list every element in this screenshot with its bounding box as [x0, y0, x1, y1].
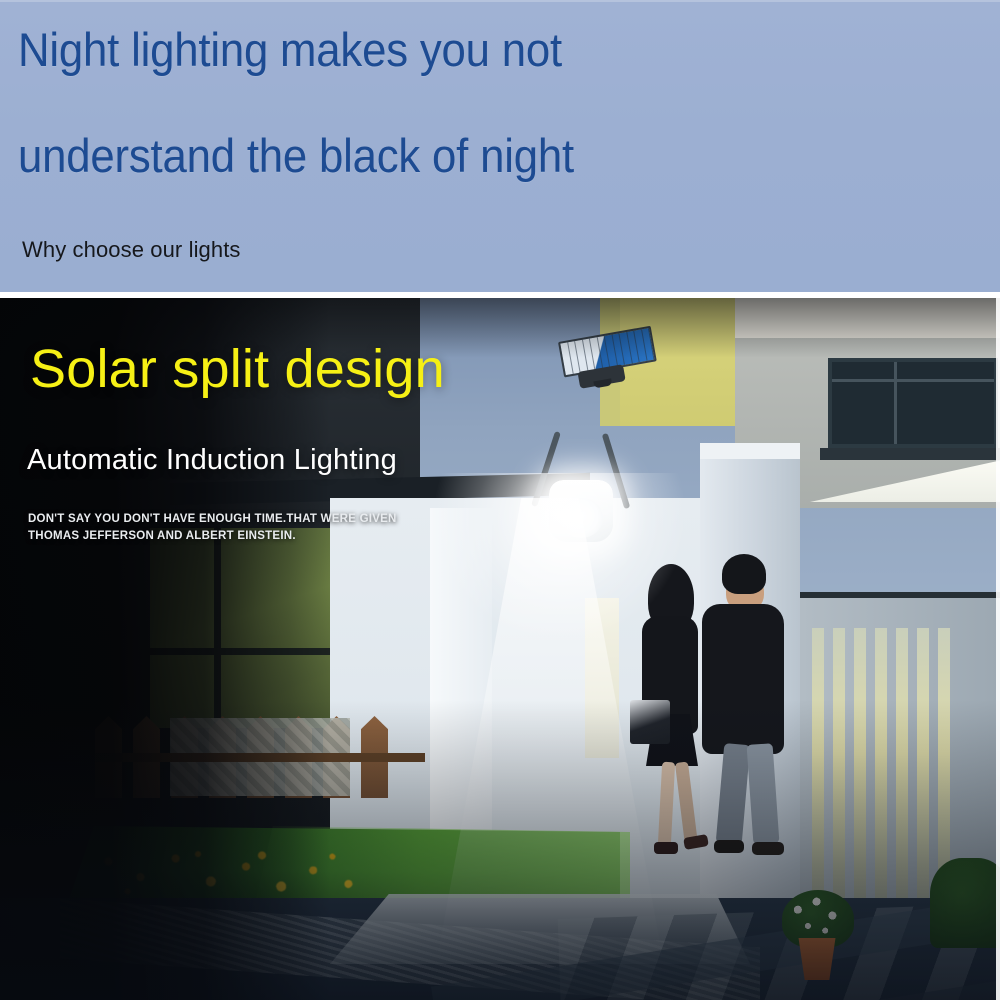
photo-caption-line-2: THOMAS JEFFERSON AND ALBERT EINSTEIN.: [28, 528, 397, 545]
header-heading-line-2: understand the black of night: [18, 128, 574, 183]
right-hedge: [930, 858, 1000, 948]
man-leg-left: [716, 743, 751, 845]
header-banner: Night lighting makes you not understand …: [0, 0, 1000, 292]
product-photo-panel: Solar split design Automatic Induction L…: [0, 298, 1000, 1000]
fence-rail: [95, 753, 425, 762]
woman-shoe-left: [654, 842, 678, 854]
man-shoe-right: [752, 842, 784, 855]
window-sill: [820, 448, 1000, 460]
porch-door-light: [585, 598, 619, 758]
photo-subtitle: Automatic Induction Lighting: [27, 444, 397, 477]
photo-caption-line-1: DON'T SAY YOU DON'T HAVE ENOUGH TIME.THA…: [28, 511, 397, 528]
lamp-lens: [559, 498, 603, 538]
header-subheading: Why choose our lights: [22, 237, 241, 263]
man-leg-right: [747, 743, 780, 845]
header-heading-line-1: Night lighting makes you not: [18, 22, 562, 77]
yellow-flower-bed: [70, 843, 390, 905]
led-lamp-head: [527, 438, 637, 548]
man-figure: [700, 554, 792, 870]
man-shoe-left: [714, 840, 744, 853]
night-scene-illustration: [0, 298, 1000, 1000]
man-hair: [722, 554, 766, 594]
photo-title: Solar split design: [30, 338, 445, 400]
upper-window: [828, 358, 998, 448]
product-banner-page: Night lighting makes you not understand …: [0, 0, 1000, 1000]
photo-caption: DON'T SAY YOU DON'T HAVE ENOUGH TIME.THA…: [28, 511, 397, 545]
photo-right-edge: [996, 298, 1000, 1000]
roof-soffit: [735, 298, 1000, 338]
left-lit-window: [150, 528, 350, 728]
woman-leg-right: [675, 762, 698, 847]
pillar-cap: [700, 443, 800, 459]
man-suit-jacket: [702, 604, 784, 754]
woman-leg-left: [658, 762, 675, 847]
woman-handbag: [630, 700, 670, 744]
